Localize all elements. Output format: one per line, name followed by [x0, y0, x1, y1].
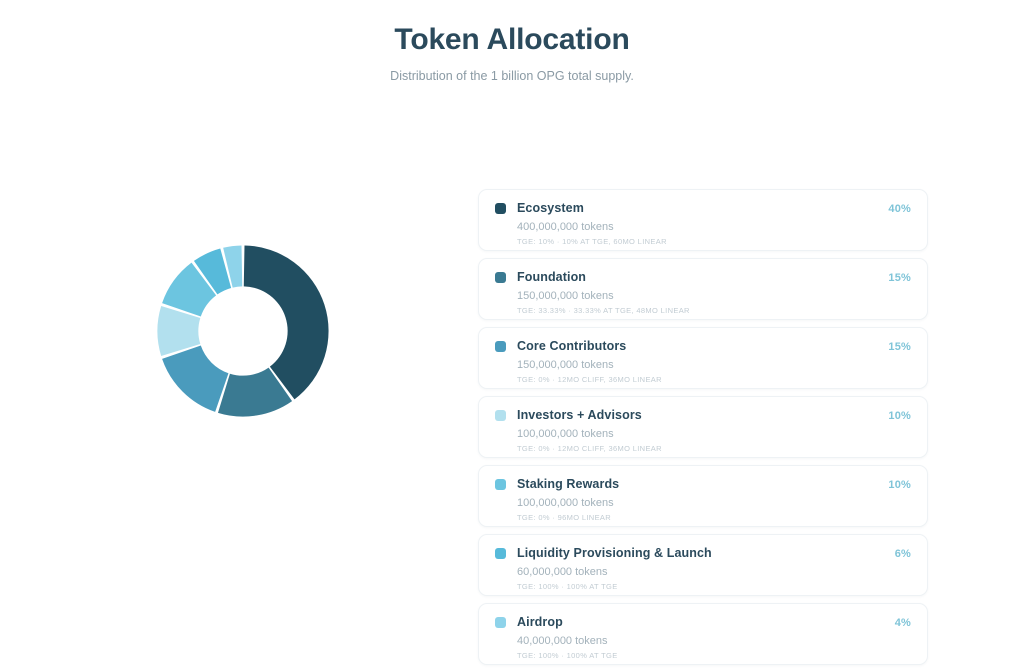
donut-svg: [150, 238, 336, 424]
list-item[interactable]: Airdrop 4% 40,000,000 tokens TGE: 100% ·…: [478, 603, 928, 665]
list-item[interactable]: Investors + Advisors 10% 100,000,000 tok…: [478, 396, 928, 458]
allocation-tokens: 40,000,000 tokens: [517, 635, 911, 647]
donut-slice-group: [157, 245, 328, 416]
allocation-vesting-meta: TGE: 10% · 10% AT TGE, 60MO LINEAR: [517, 238, 911, 246]
allocation-percent: 15%: [888, 272, 911, 284]
color-swatch-icon: [495, 617, 506, 628]
list-item-header: Liquidity Provisioning & Launch: [495, 547, 911, 560]
allocation-name: Investors + Advisors: [517, 409, 642, 422]
list-item[interactable]: Staking Rewards 10% 100,000,000 tokens T…: [478, 465, 928, 527]
allocation-vesting-meta: TGE: 100% · 100% AT TGE: [517, 583, 911, 591]
color-swatch-icon: [495, 479, 506, 490]
allocation-tokens: 60,000,000 tokens: [517, 566, 911, 578]
list-item[interactable]: Ecosystem 40% 400,000,000 tokens TGE: 10…: [478, 189, 928, 251]
list-item[interactable]: Core Contributors 15% 150,000,000 tokens…: [478, 327, 928, 389]
allocation-percent: 15%: [888, 341, 911, 353]
list-item-header: Investors + Advisors: [495, 409, 911, 422]
allocation-name: Foundation: [517, 271, 586, 284]
list-item-header: Core Contributors: [495, 340, 911, 353]
allocation-percent: 10%: [888, 410, 911, 422]
allocation-vesting-meta: TGE: 0% · 96MO LINEAR: [517, 514, 911, 522]
allocation-percent: 10%: [888, 479, 911, 491]
allocation-vesting-meta: TGE: 100% · 100% AT TGE: [517, 652, 911, 660]
page-title: Token Allocation: [0, 22, 1024, 58]
allocation-vesting-meta: TGE: 0% · 12MO CLIFF, 36MO LINEAR: [517, 376, 911, 384]
list-item[interactable]: Foundation 15% 150,000,000 tokens TGE: 3…: [478, 258, 928, 320]
allocation-percent: 40%: [888, 203, 911, 215]
page-subtitle: Distribution of the 1 billion OPG total …: [0, 69, 1024, 83]
list-item-header: Foundation: [495, 271, 911, 284]
allocation-tokens: 150,000,000 tokens: [517, 290, 911, 302]
donut-slice[interactable]: [162, 346, 228, 412]
allocation-tokens: 100,000,000 tokens: [517, 497, 911, 509]
token-allocation-donut-chart: [150, 238, 336, 424]
allocation-tokens: 150,000,000 tokens: [517, 359, 911, 371]
list-item-header: Ecosystem: [495, 202, 911, 215]
allocation-tokens: 400,000,000 tokens: [517, 221, 911, 233]
allocation-percent: 6%: [895, 548, 911, 560]
allocation-name: Liquidity Provisioning & Launch: [517, 547, 712, 560]
color-swatch-icon: [495, 548, 506, 559]
color-swatch-icon: [495, 410, 506, 421]
color-swatch-icon: [495, 272, 506, 283]
allocation-name: Staking Rewards: [517, 478, 619, 491]
allocation-percent: 4%: [895, 617, 911, 629]
color-swatch-icon: [495, 341, 506, 352]
allocation-name: Ecosystem: [517, 202, 584, 215]
color-swatch-icon: [495, 203, 506, 214]
list-item-header: Staking Rewards: [495, 478, 911, 491]
page-header: Token Allocation Distribution of the 1 b…: [0, 0, 1024, 83]
allocation-name: Core Contributors: [517, 340, 626, 353]
allocation-list: Ecosystem 40% 400,000,000 tokens TGE: 10…: [478, 189, 928, 672]
allocation-tokens: 100,000,000 tokens: [517, 428, 911, 440]
allocation-vesting-meta: TGE: 33.33% · 33.33% AT TGE, 48MO LINEAR: [517, 307, 911, 315]
list-item[interactable]: Liquidity Provisioning & Launch 6% 60,00…: [478, 534, 928, 596]
allocation-vesting-meta: TGE: 0% · 12MO CLIFF, 36MO LINEAR: [517, 445, 911, 453]
